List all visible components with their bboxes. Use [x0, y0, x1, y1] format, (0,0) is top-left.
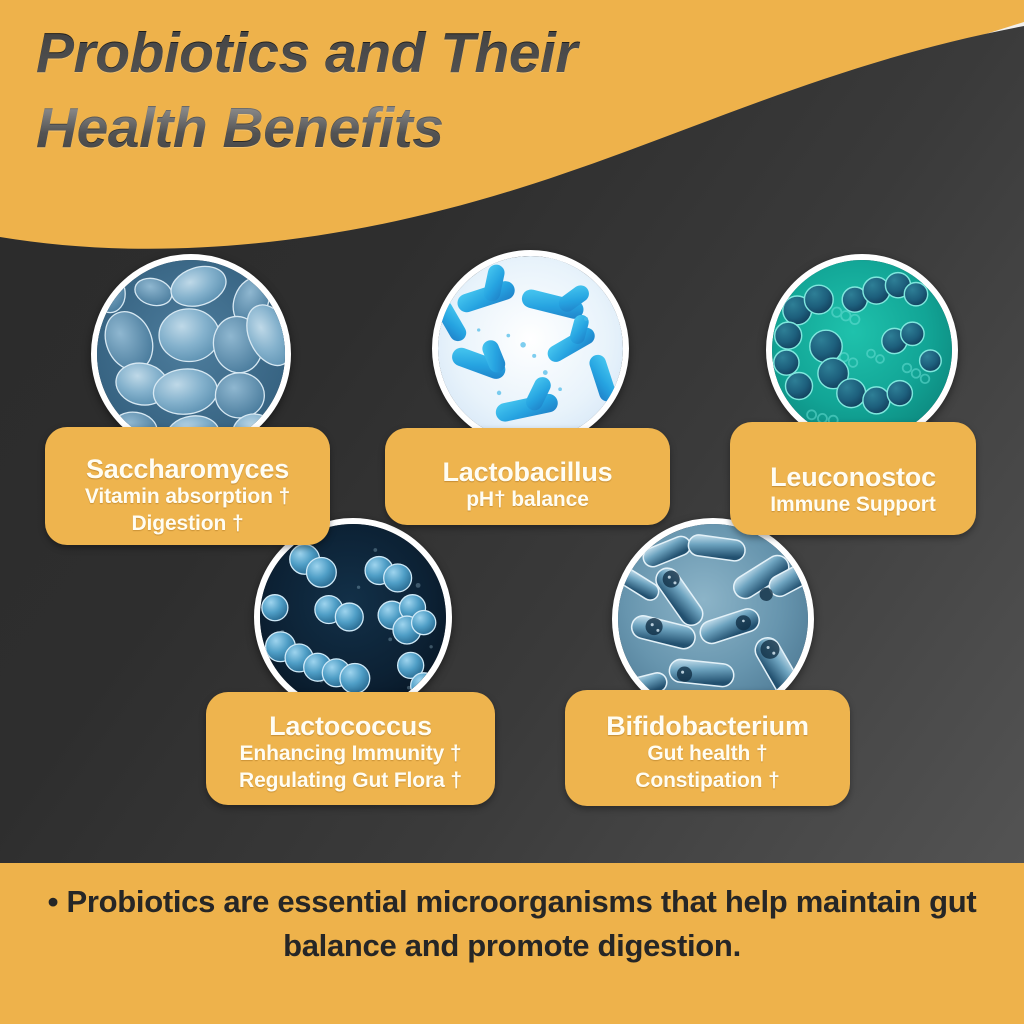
probiotic-card-bifidobacterium[interactable]: Bifidobacterium Gut health † Constipatio…	[565, 690, 850, 806]
circle-image-leuconostoc	[766, 254, 958, 446]
probiotic-benefit: Digestion †	[45, 511, 330, 538]
probiotic-benefit: Vitamin absorption †	[45, 484, 330, 511]
footer-note: • Probiotics are essential microorganism…	[0, 880, 1024, 968]
probiotic-benefit: Gut health †	[565, 741, 850, 768]
circle-image-lactococcus	[254, 518, 452, 716]
lactococcus-diplococci-micrograph	[260, 524, 446, 710]
probiotic-card-lactococcus[interactable]: Lactococcus Enhancing Immunity † Regulat…	[206, 692, 495, 805]
probiotic-name: Lactococcus	[206, 711, 495, 741]
probiotic-card-leuconostoc[interactable]: Leuconostoc Immune Support	[730, 422, 976, 535]
probiotic-benefit: Regulating Gut Flora †	[206, 768, 495, 795]
probiotic-name: Bifidobacterium	[565, 711, 850, 741]
probiotic-card-saccharomyces[interactable]: Saccharomyces Vitamin absorption † Diges…	[45, 427, 330, 545]
page-title: Probiotics and Their Health Benefits	[36, 16, 776, 166]
probiotic-name: Saccharomyces	[45, 454, 330, 484]
infographic-poster: Probiotics and Their Health Benefits	[0, 0, 1024, 1024]
bifidobacterium-rods-micrograph	[618, 524, 808, 714]
probiotic-name: Leuconostoc	[730, 462, 976, 492]
saccharomyces-yeast-micrograph	[97, 260, 285, 448]
probiotic-benefit: Enhancing Immunity †	[206, 741, 495, 768]
leuconostoc-cocci-chains-micrograph	[772, 260, 952, 440]
probiotic-benefit: Constipation †	[565, 768, 850, 795]
probiotic-card-lactobacillus[interactable]: Lactobacillus pH† balance	[385, 428, 670, 525]
probiotic-benefit: pH† balance	[385, 487, 670, 514]
lactobacillus-rods-micrograph	[438, 256, 623, 441]
circle-image-lactobacillus	[432, 250, 629, 447]
probiotic-benefit: Immune Support	[730, 492, 976, 519]
probiotic-name: Lactobacillus	[385, 457, 670, 487]
circle-image-saccharomyces	[91, 254, 291, 454]
